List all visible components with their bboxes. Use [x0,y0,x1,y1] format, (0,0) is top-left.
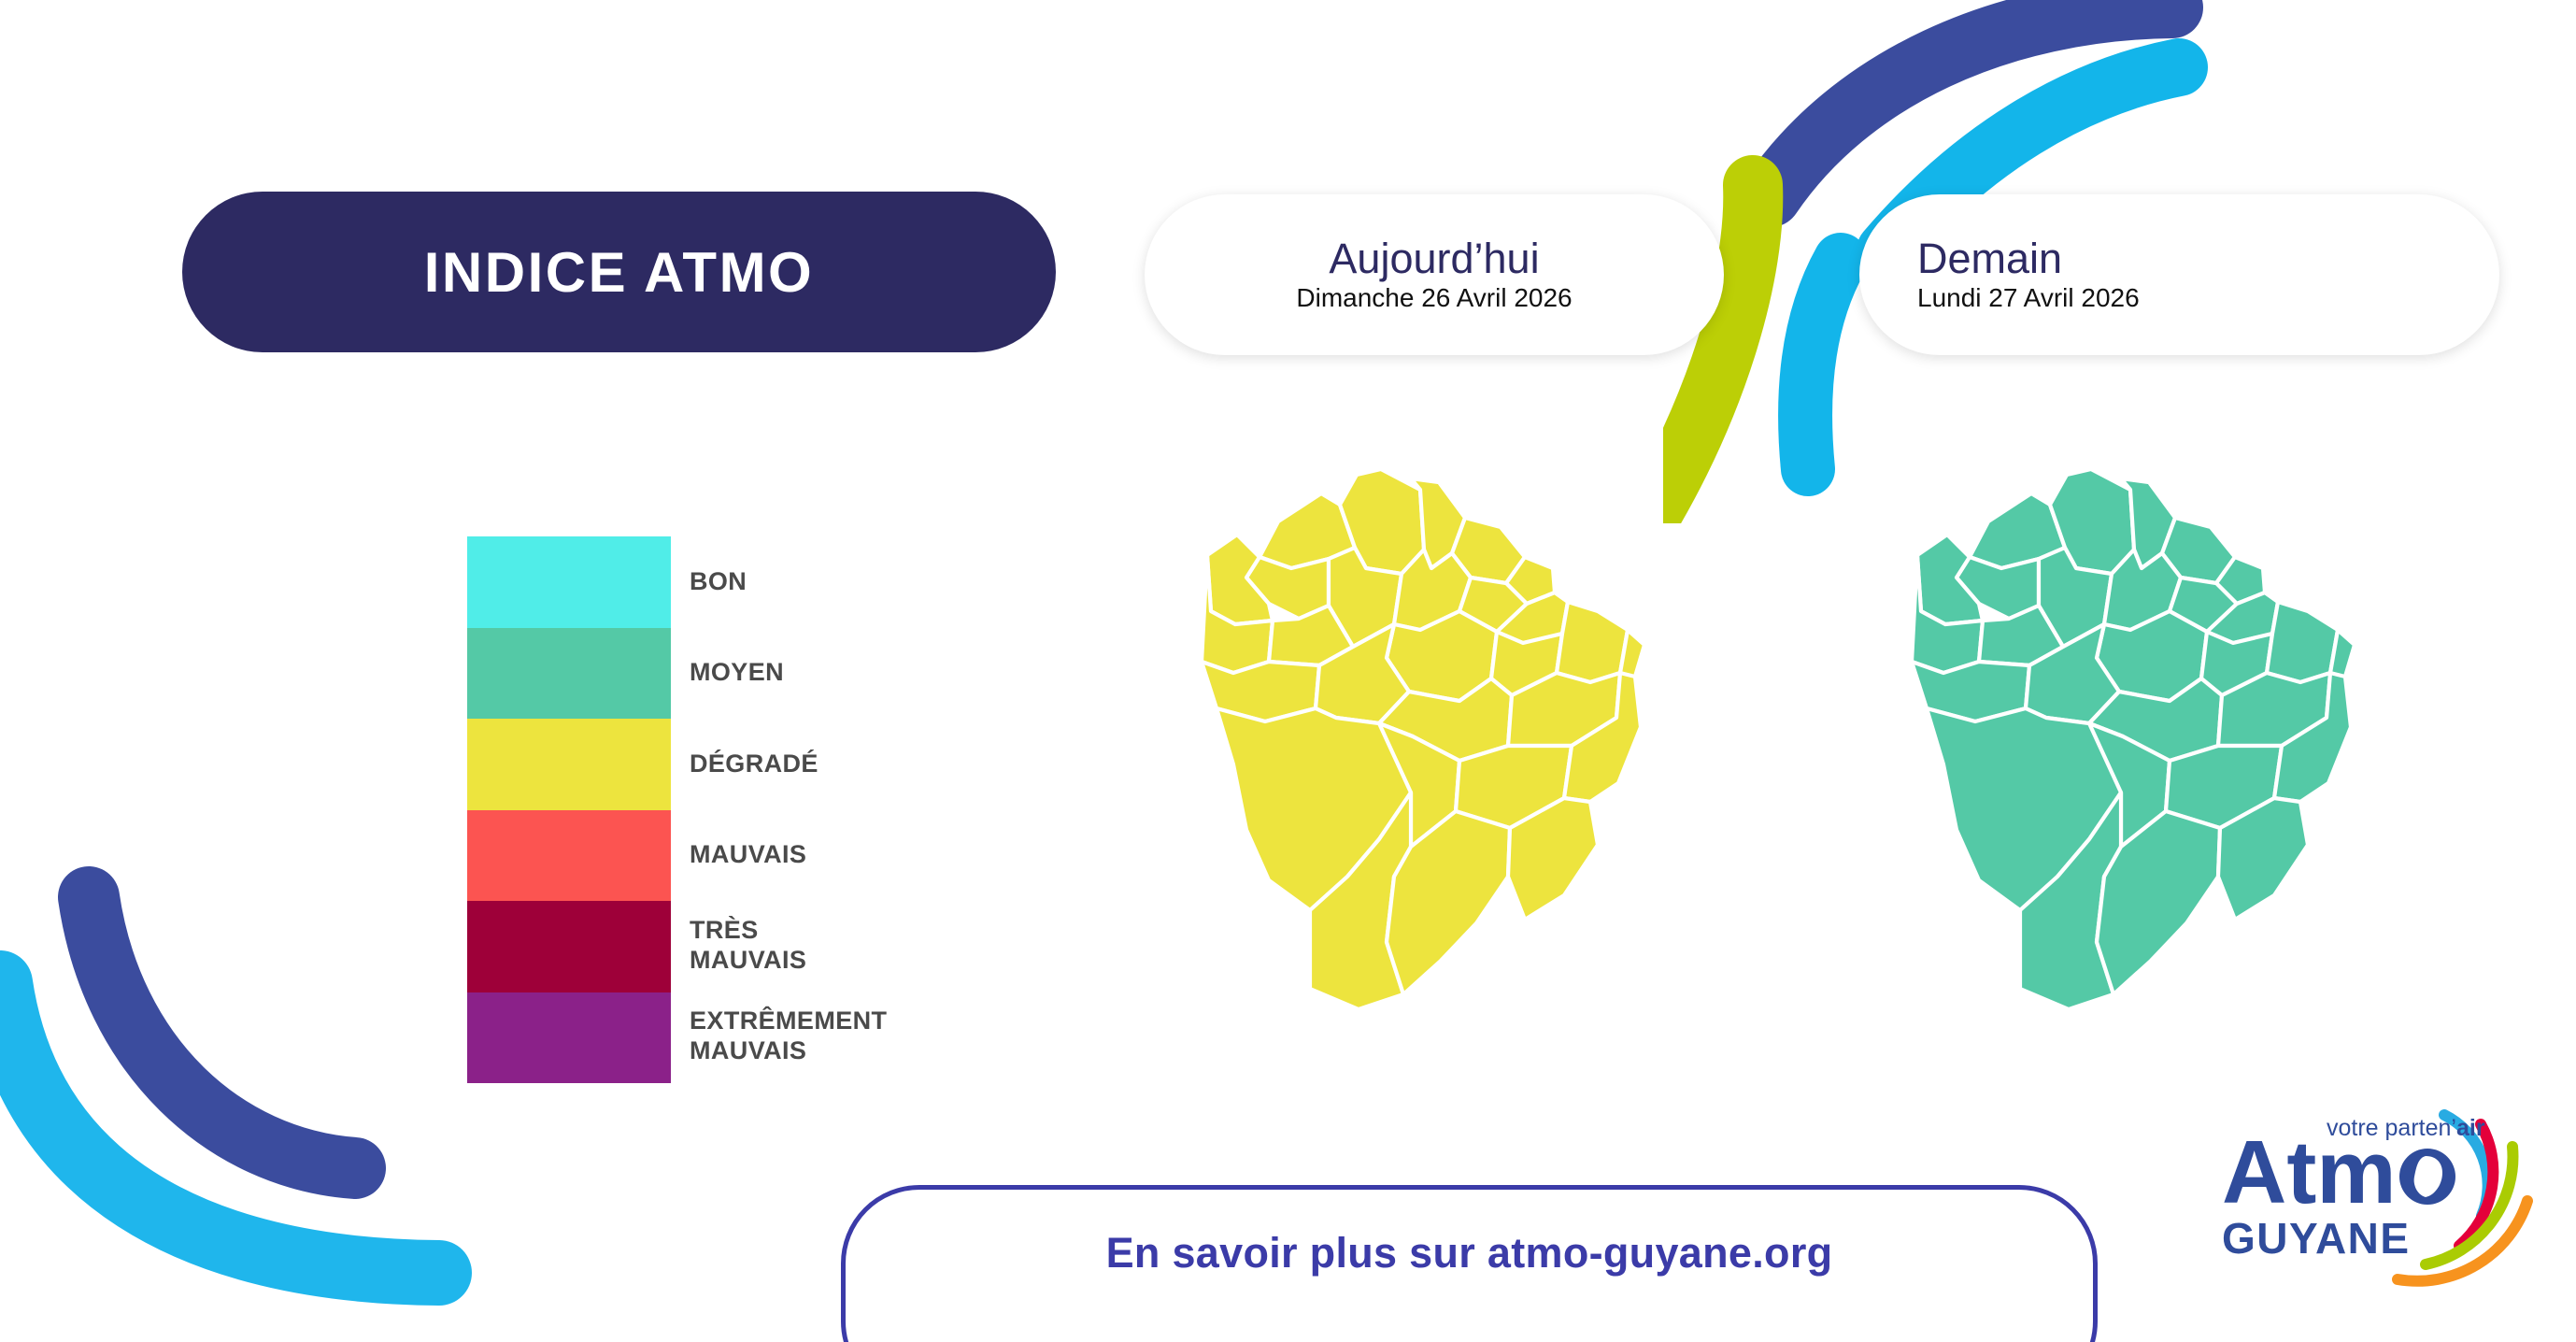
day-card-tomorrow[interactable]: Demain Lundi 27 Avril 2026 [1859,194,2499,355]
legend-swatch-moyen [467,628,671,720]
page-title: INDICE ATMO [424,240,814,305]
map-svg-tomorrow [1889,437,2384,1054]
atmo-guyane-logo[interactable]: Atm GUYANE votre parten’air [2214,1098,2569,1299]
day-date-today: Dimanche 26 Avril 2026 [1296,284,1572,313]
legend-row-degrade: DÉGRADÉ [467,719,990,810]
legend-label-moyen: MOYEN [690,658,979,688]
map-guyane-tomorrow[interactable] [1889,437,2384,1054]
legend-swatch-extremement-mauvais [467,992,671,1084]
day-title-today: Aujourd’hui [1329,236,1539,280]
logo-wordmark-guyane: GUYANE [2222,1214,2411,1263]
legend-label-extremement-mauvais: EXTRÊMEMENT MAUVAIS [690,1006,979,1066]
air-quality-legend: BON MOYEN DÉGRADÉ MAUVAIS TRÈS MAUVAIS E… [467,536,990,1088]
day-card-today[interactable]: Aujourd’hui Dimanche 26 Avril 2026 [1145,194,1724,355]
swoosh-cyan-lower-icon [1805,260,1841,469]
legend-row-extremement-mauvais: EXTRÊMEMENT MAUVAIS [467,992,990,1084]
swoosh-cyan-bottom-icon [0,983,439,1273]
day-date-tomorrow: Lundi 27 Avril 2026 [1917,284,2140,313]
legend-swatch-tres-mauvais [467,901,671,992]
learn-more-button[interactable]: En savoir plus sur atmo-guyane.org [841,1185,2098,1342]
legend-row-mauvais: MAUVAIS [467,810,990,902]
commune-region [1557,602,1628,682]
legend-swatch-mauvais [467,810,671,902]
legend-swatch-bon [467,536,671,628]
map-svg-today [1179,437,1674,1054]
logo-tagline: votre parten’air [2327,1115,2485,1141]
legend-row-moyen: MOYEN [467,628,990,720]
indice-atmo-banner: INDICE ATMO [182,192,1056,352]
legend-label-degrade: DÉGRADÉ [690,750,979,779]
commune-region [2267,602,2338,682]
learn-more-label: En savoir plus sur atmo-guyane.org [1106,1229,1833,1278]
legend-label-mauvais: MAUVAIS [690,840,979,870]
swoosh-navy-bottom-icon [89,897,355,1168]
swoosh-navy-icon [1771,7,2172,196]
legend-row-bon: BON [467,536,990,628]
legend-label-bon: BON [690,567,979,597]
poster-canvas: INDICE ATMO Aujourd’hui Dimanche 26 Avri… [0,0,2576,1342]
legend-row-tres-mauvais: TRÈS MAUVAIS [467,901,990,992]
map-guyane-today[interactable] [1179,437,1674,1054]
legend-swatch-degrade [467,719,671,810]
day-title-tomorrow: Demain [1917,236,2062,280]
legend-label-tres-mauvais: TRÈS MAUVAIS [690,916,979,976]
atmo-guyane-logo-svg: Atm GUYANE votre parten’air [2214,1098,2569,1299]
